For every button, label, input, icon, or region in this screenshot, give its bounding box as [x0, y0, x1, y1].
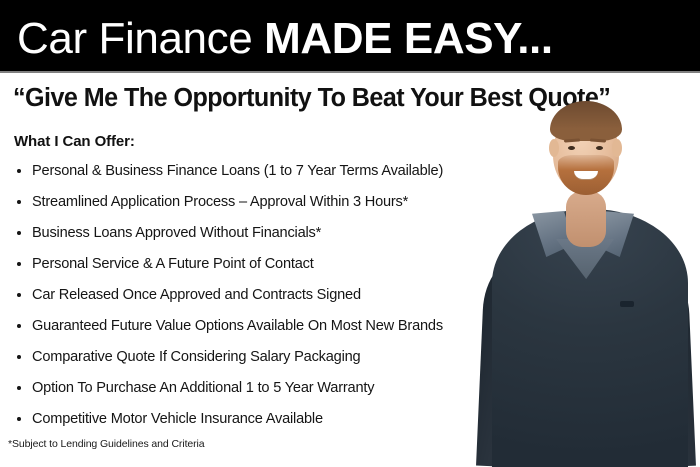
list-item: Car Released Once Approved and Contracts… [14, 284, 524, 315]
bullet-dot-icon [17, 355, 21, 359]
bullet-dot-icon [17, 417, 21, 421]
page-title-light: Car Finance [17, 14, 264, 63]
portrait-eye-left [568, 146, 575, 150]
portrait-eye-right [596, 146, 603, 150]
list-item-label: Car Released Once Approved and Contracts… [32, 287, 361, 303]
list-item: Guaranteed Future Value Options Availabl… [14, 315, 524, 346]
list-item: Option To Purchase An Additional 1 to 5 … [14, 377, 524, 408]
list-item-label: Personal & Business Finance Loans (1 to … [32, 163, 443, 179]
bullet-dot-icon [17, 200, 21, 204]
page-title-bold: MADE EASY... [264, 14, 553, 63]
list-item-label: Competitive Motor Vehicle Insurance Avai… [32, 411, 323, 427]
bullet-dot-icon [17, 386, 21, 390]
list-item: Competitive Motor Vehicle Insurance Avai… [14, 408, 524, 439]
bullet-dot-icon [17, 324, 21, 328]
bullet-dot-icon [17, 231, 21, 235]
page-title: Car Finance MADE EASY... [17, 13, 553, 65]
list-item-label: Option To Purchase An Additional 1 to 5 … [32, 380, 374, 396]
list-item: Personal Service & A Future Point of Con… [14, 253, 524, 284]
portrait-hair [550, 101, 622, 141]
portrait-neck [566, 191, 606, 247]
list-item: Comparative Quote If Considering Salary … [14, 346, 524, 377]
list-item: Streamlined Application Process – Approv… [14, 191, 524, 222]
bullet-dot-icon [17, 169, 21, 173]
offer-list: Personal & Business Finance Loans (1 to … [14, 160, 524, 439]
list-item-label: Streamlined Application Process – Approv… [32, 194, 408, 210]
portrait-ear-left [549, 139, 559, 157]
portrait-ear-right [612, 139, 622, 157]
list-item: Personal & Business Finance Loans (1 to … [14, 160, 524, 191]
footnote: *Subject to Lending Guidelines and Crite… [8, 437, 205, 451]
list-item-label: Business Loans Approved Without Financia… [32, 225, 321, 241]
list-item: Business Loans Approved Without Financia… [14, 222, 524, 253]
sweater-logo [620, 301, 634, 307]
bullet-dot-icon [17, 262, 21, 266]
offer-heading: What I Can Offer: [14, 133, 135, 151]
list-item-label: Comparative Quote If Considering Salary … [32, 349, 360, 365]
list-item-label: Personal Service & A Future Point of Con… [32, 256, 314, 272]
list-item-label: Guaranteed Future Value Options Availabl… [32, 318, 443, 334]
car-finance-poster: Car Finance MADE EASY... “Give Me The Op… [0, 0, 700, 467]
bullet-dot-icon [17, 293, 21, 297]
header-banner: Car Finance MADE EASY... [0, 0, 700, 73]
